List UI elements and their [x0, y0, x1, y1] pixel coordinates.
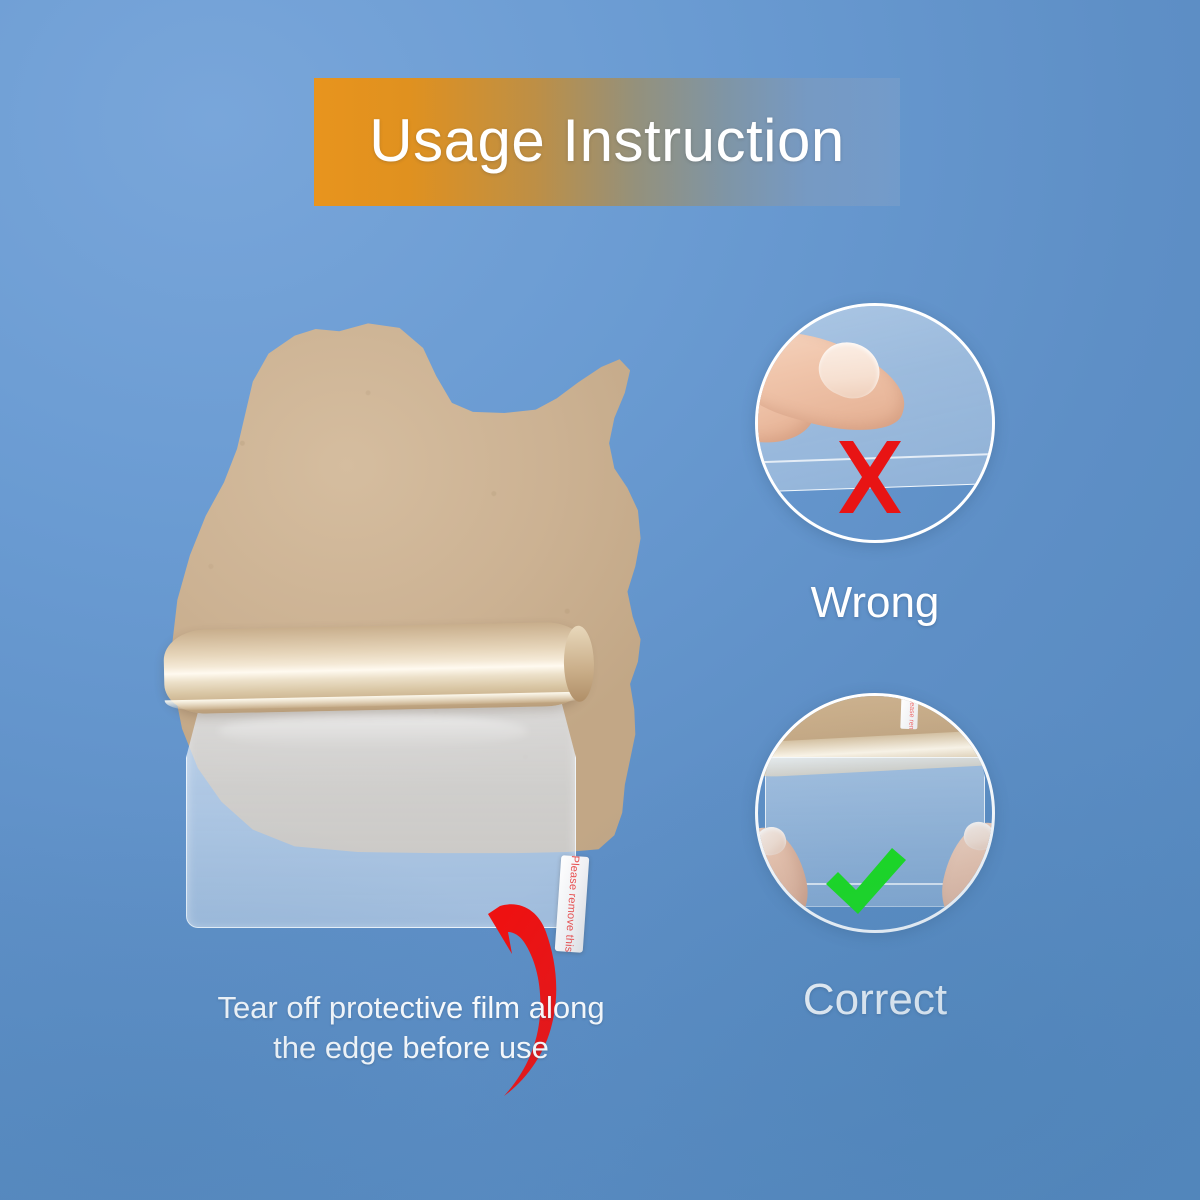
page-title: Usage Instruction: [369, 111, 844, 171]
x-mark-icon: [833, 437, 907, 517]
caption-line-1: Tear off protective film along: [96, 988, 726, 1028]
title-banner: Usage Instruction: [314, 78, 900, 206]
adhesive-base-panel: [186, 698, 576, 928]
inset-correct-label: Correct: [725, 975, 1025, 1025]
main-product-photo: Please remove this: [120, 300, 700, 960]
pull-tab-label: Please remove this: [563, 855, 582, 953]
peeled-film-roll: [163, 622, 589, 715]
pull-tab: Please remove this: [555, 855, 590, 953]
inset-wrong-label: Wrong: [725, 578, 1025, 628]
base-highlight: [218, 713, 528, 749]
check-mark-icon: [822, 846, 910, 916]
inset-wrong: [755, 303, 995, 543]
pull-tab-mini-label: Please remove this: [908, 696, 916, 713]
inset-correct: Please remove this: [755, 693, 995, 933]
caption-line-2: the edge before use: [96, 1028, 726, 1068]
pull-tab-mini: Please remove this: [900, 693, 918, 729]
poster-canvas: Usage Instruction Please remove this Tea…: [0, 0, 1200, 1200]
main-caption: Tear off protective film along the edge …: [96, 988, 726, 1069]
